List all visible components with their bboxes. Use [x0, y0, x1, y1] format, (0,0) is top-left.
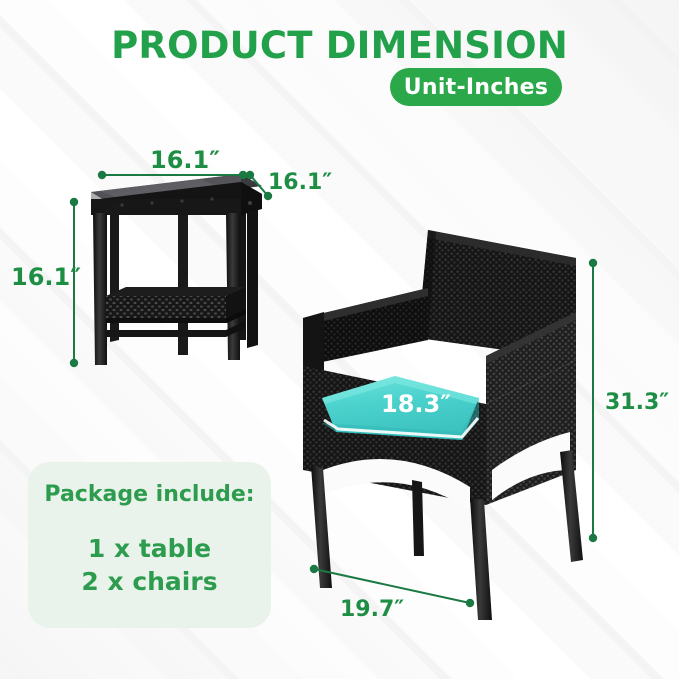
- package-heading: Package include:: [28, 482, 271, 507]
- unit-badge: Unit-Inches: [390, 68, 562, 106]
- package-item-chairs: 2 x chairs: [28, 567, 271, 596]
- chair-width-label: 19.7″: [340, 597, 404, 622]
- page-title: PRODUCT DIMENSION: [0, 24, 679, 67]
- package-item-table: 1 x table: [28, 534, 271, 563]
- table-width-label: 16.1″: [150, 146, 220, 174]
- infographic-canvas: PRODUCT DIMENSION Unit-Inches 16.1″ 16.1…: [0, 0, 679, 679]
- table-depth-label: 16.1″: [268, 170, 332, 195]
- table-height-label: 16.1″: [11, 263, 81, 291]
- package-include-box: Package include: 1 x table 2 x chairs: [28, 462, 271, 628]
- chair-height-label: 31.3″: [605, 390, 669, 415]
- cushion-depth-label: 18.3″: [381, 390, 451, 418]
